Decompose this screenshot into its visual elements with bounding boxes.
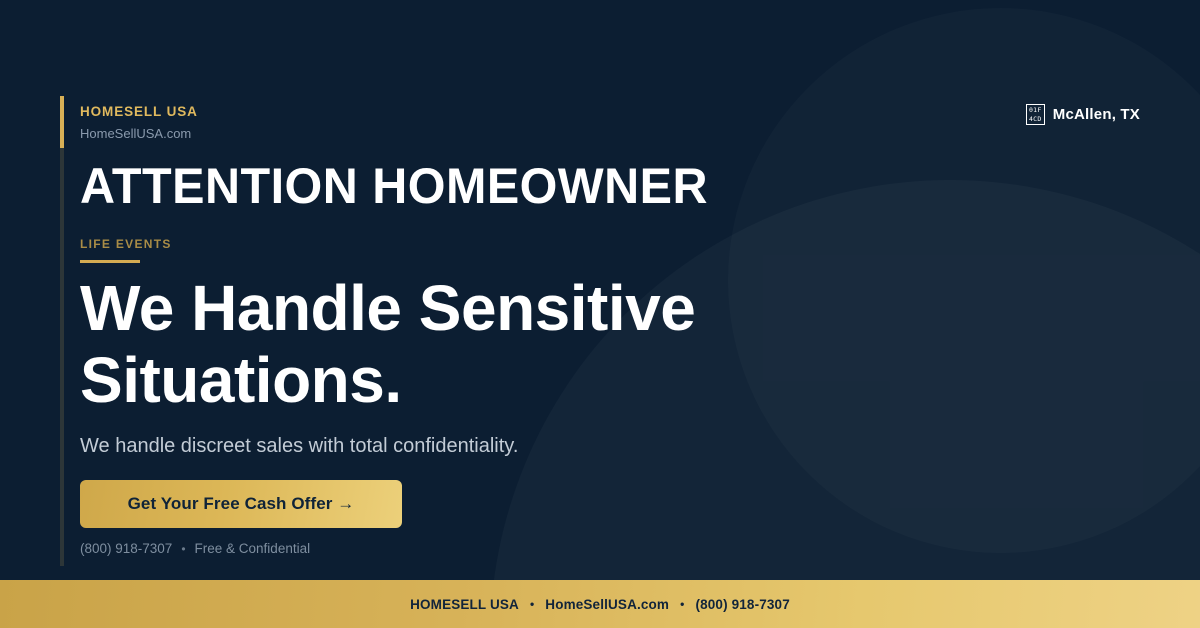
eyebrow-rule bbox=[80, 260, 140, 263]
footer-separator-one: • bbox=[530, 597, 534, 611]
hero-subtitle: We handle discreet sales with total conf… bbox=[80, 436, 518, 456]
location-pin-icon: 01F 4CD bbox=[1026, 104, 1045, 125]
main-headline: We Handle Sensitive Situations. bbox=[80, 273, 900, 416]
hero-content: HOMESELL USA HomeSellUSA.com ATTENTION H… bbox=[80, 0, 960, 628]
brand-domain: HomeSellUSA.com bbox=[80, 127, 198, 140]
brand-name: HOMESELL USA bbox=[80, 105, 198, 119]
attention-headline: ATTENTION HOMEOWNER bbox=[80, 161, 708, 211]
left-accent-rail bbox=[60, 96, 64, 566]
footer-phone[interactable]: (800) 918-7307 bbox=[695, 597, 789, 612]
brand-block: HOMESELL USA HomeSellUSA.com bbox=[80, 105, 198, 140]
location-badge: 01F 4CD McAllen, TX bbox=[1026, 104, 1140, 125]
contact-note: Free & Confidential bbox=[195, 542, 311, 556]
cta-button[interactable]: Get Your Free Cash Offer → bbox=[80, 480, 402, 528]
tofu-codepoint-top: 01F bbox=[1029, 106, 1042, 115]
location-label: McAllen, TX bbox=[1053, 106, 1140, 123]
footer-domain[interactable]: HomeSellUSA.com bbox=[545, 597, 669, 612]
eyebrow-label: LIFE EVENTS bbox=[80, 238, 172, 250]
contact-separator: • bbox=[181, 543, 185, 555]
footer-separator-two: • bbox=[680, 597, 684, 611]
left-accent-rail-highlight bbox=[60, 96, 64, 148]
footer-content: HOMESELL USA • HomeSellUSA.com • (800) 9… bbox=[410, 597, 790, 612]
tofu-codepoint-bottom: 4CD bbox=[1029, 115, 1042, 124]
contact-line: (800) 918-7307 • Free & Confidential bbox=[80, 542, 310, 556]
footer-brand: HOMESELL USA bbox=[410, 597, 519, 612]
eyebrow-block: LIFE EVENTS bbox=[80, 238, 172, 263]
contact-phone[interactable]: (800) 918-7307 bbox=[80, 542, 172, 556]
footer-bar: HOMESELL USA • HomeSellUSA.com • (800) 9… bbox=[0, 580, 1200, 628]
